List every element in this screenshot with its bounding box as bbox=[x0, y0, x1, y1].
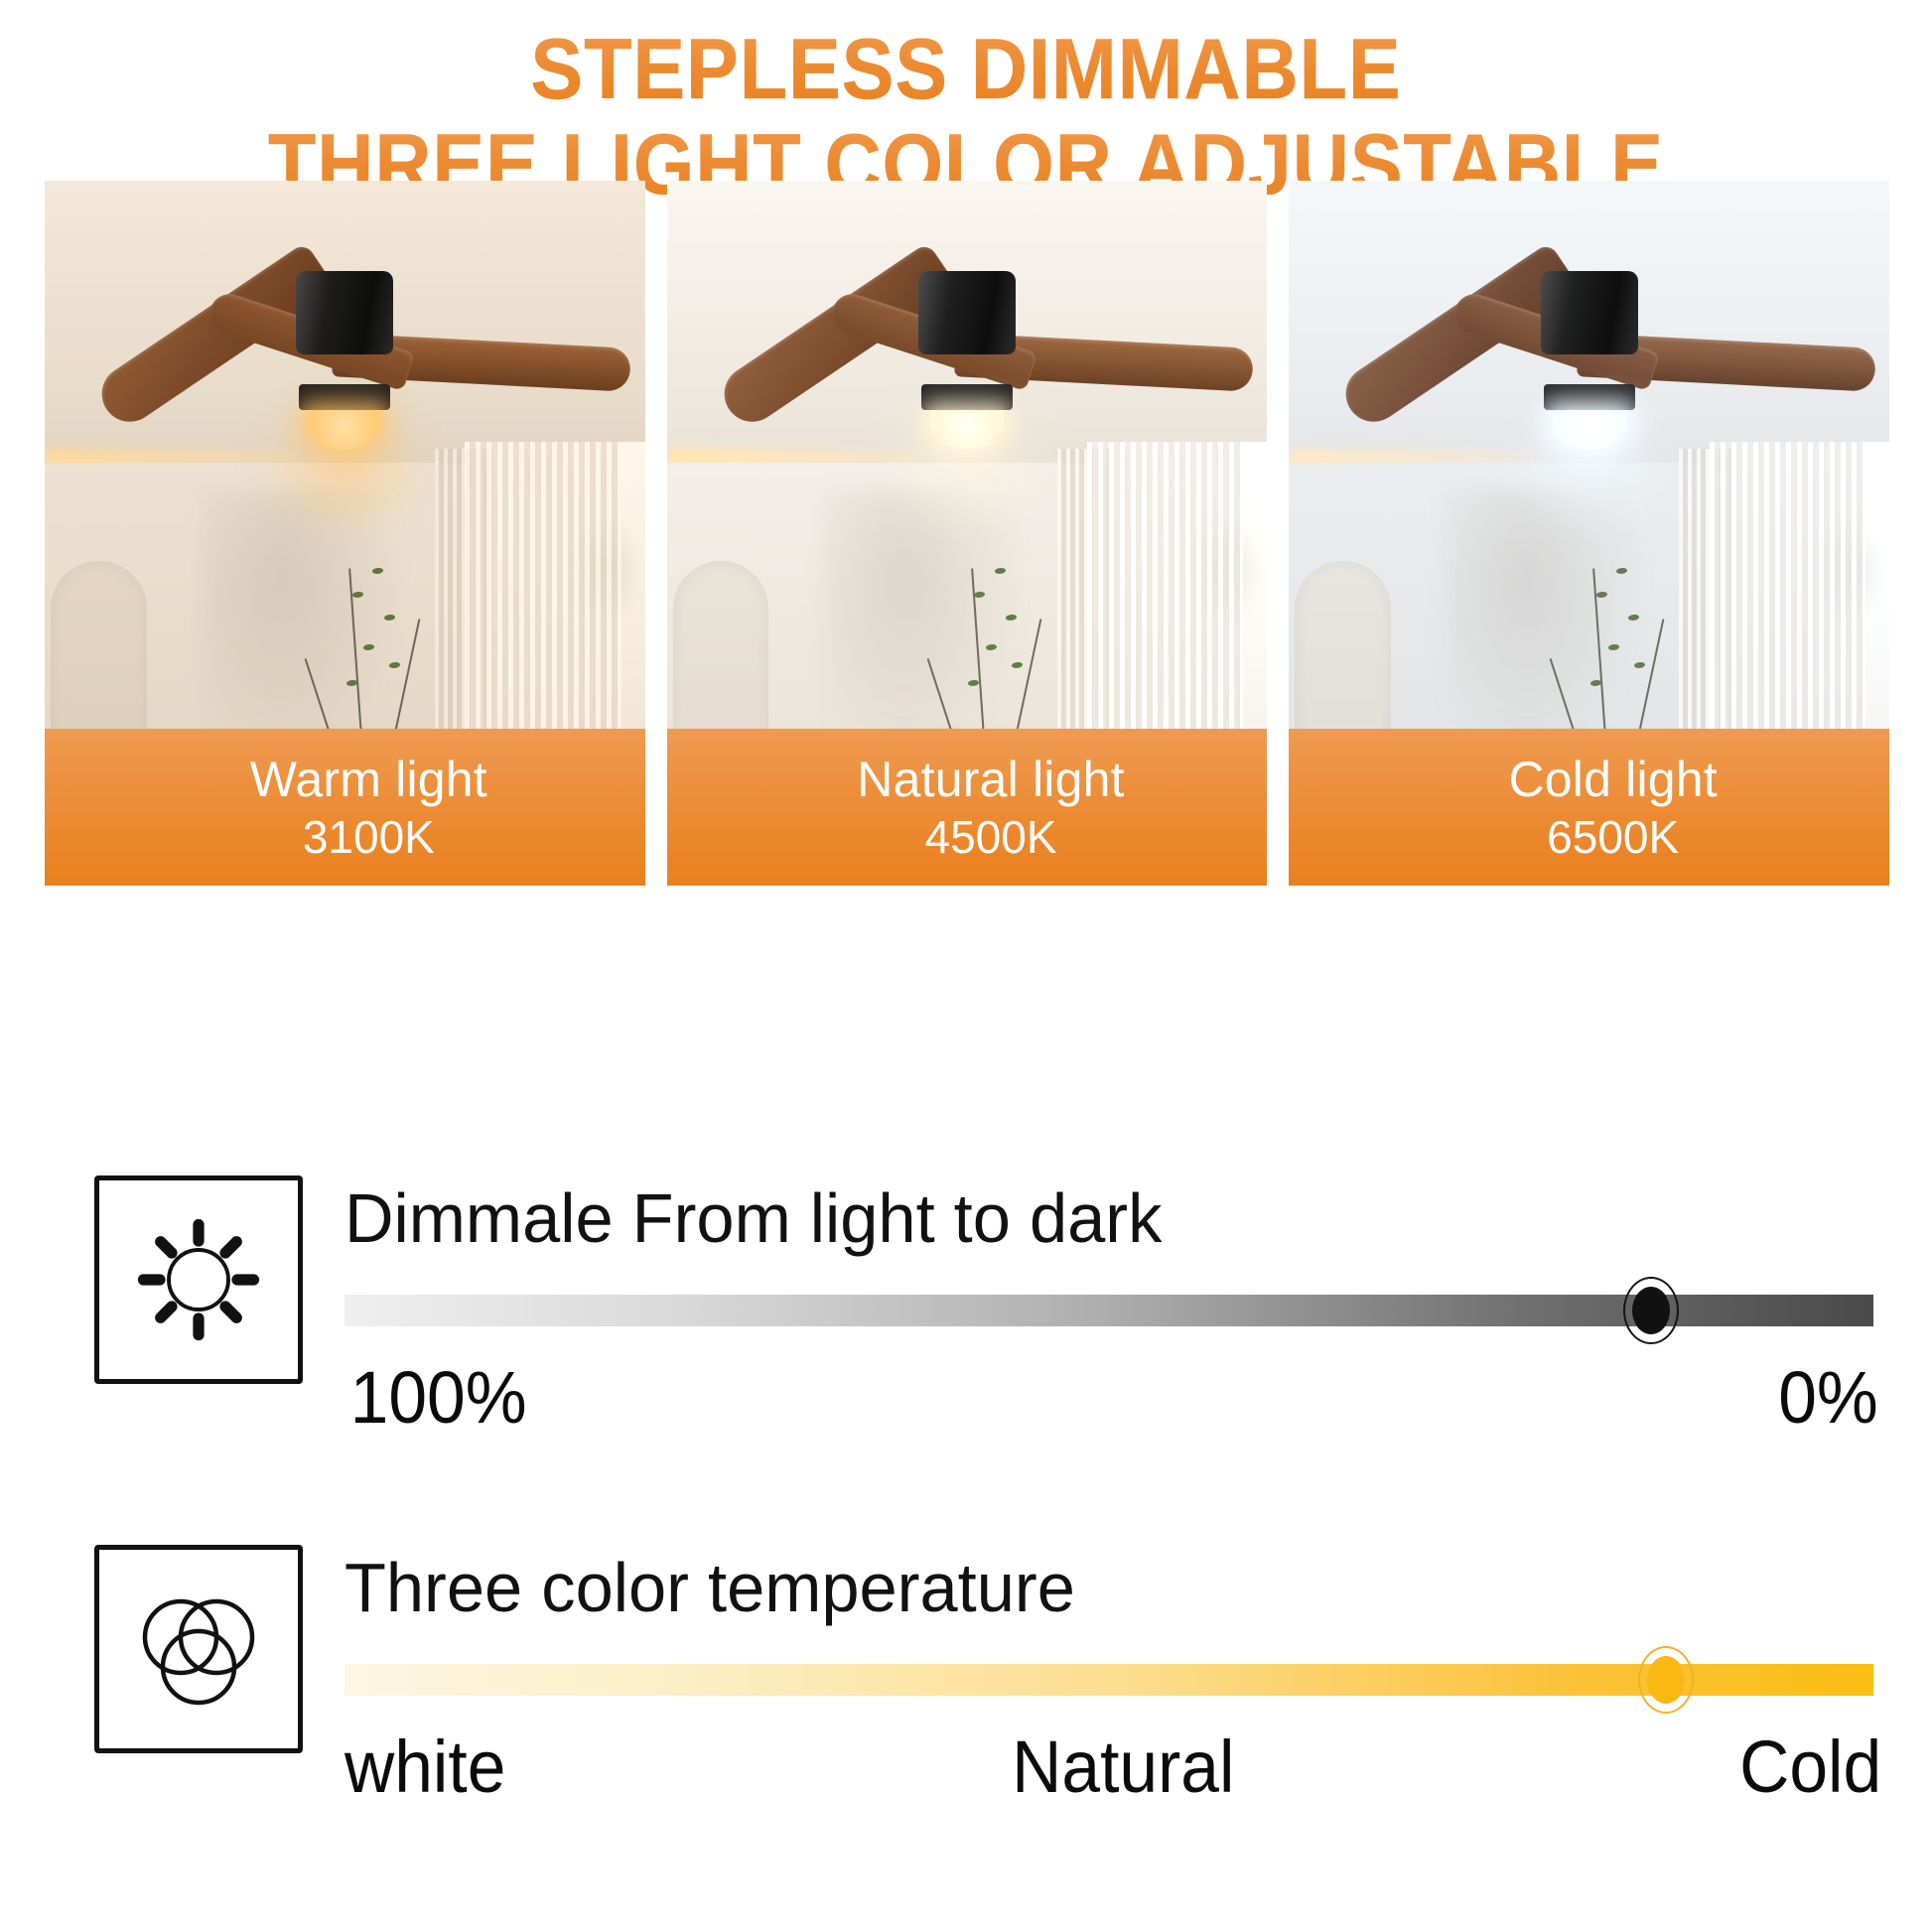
color-circles-icon-box bbox=[94, 1545, 303, 1753]
light-color-panels: Warm light 3100K bbox=[45, 181, 1889, 886]
cct-scale-white: white bbox=[345, 1725, 505, 1809]
cct-scale-cold: Cold bbox=[1739, 1725, 1881, 1809]
panel-cold-light: Cold light 6500K bbox=[1289, 181, 1889, 886]
color-circles-icon bbox=[124, 1575, 273, 1724]
panel-natural-light: Natural light 4500K bbox=[667, 181, 1268, 886]
headline-line-1: STEPLESS DIMMABLE bbox=[77, 22, 1855, 117]
caption-name: Natural light bbox=[857, 750, 1124, 809]
sun-icon bbox=[124, 1205, 273, 1354]
caption-name: Cold light bbox=[1508, 750, 1717, 809]
dimmer-thumb[interactable] bbox=[1623, 1277, 1679, 1344]
color-temperature-heading: Three color temperature bbox=[345, 1549, 1851, 1626]
color-temperature-thumb-knob bbox=[1647, 1656, 1685, 1704]
dimmer-slider[interactable] bbox=[345, 1277, 1881, 1342]
caption-kelvin: 6500K bbox=[1547, 809, 1679, 865]
dimmer-scale: 100% 0% bbox=[345, 1356, 1881, 1440]
product-infographic: STEPLESS DIMMABLE THREE LIGHT COLOR ADJU… bbox=[0, 0, 1932, 1932]
color-temperature-body: Three color temperature white Natural Co… bbox=[345, 1545, 1881, 1809]
caption-kelvin: 4500K bbox=[925, 809, 1057, 865]
dimmer-thumb-knob bbox=[1632, 1287, 1670, 1334]
dimmer-scale-max: 100% bbox=[350, 1356, 527, 1440]
panel-caption-cold: Cold light 6500K bbox=[1289, 729, 1889, 886]
color-temperature-slider[interactable] bbox=[345, 1646, 1881, 1712]
dimming-body: Dimmale From light to dark 100% 0% bbox=[345, 1175, 1881, 1440]
panel-caption-warm: Warm light 3100K bbox=[45, 729, 645, 886]
caption-name: Warm light bbox=[250, 750, 487, 809]
feature-dimming: Dimmale From light to dark 100% 0% bbox=[94, 1175, 1881, 1440]
sun-icon-box bbox=[94, 1175, 303, 1384]
caption-kelvin: 3100K bbox=[303, 809, 435, 865]
feature-color-temperature: Three color temperature white Natural Co… bbox=[94, 1545, 1881, 1809]
cct-scale-natural: Natural bbox=[1012, 1725, 1234, 1809]
dimmer-scale-min: 0% bbox=[1778, 1356, 1878, 1440]
color-temperature-thumb[interactable] bbox=[1638, 1646, 1694, 1714]
panel-warm-light: Warm light 3100K bbox=[45, 181, 645, 886]
panel-caption-natural: Natural light 4500K bbox=[667, 729, 1268, 886]
color-temperature-scale: white Natural Cold bbox=[345, 1725, 1881, 1809]
dimming-heading: Dimmale From light to dark bbox=[345, 1179, 1851, 1257]
